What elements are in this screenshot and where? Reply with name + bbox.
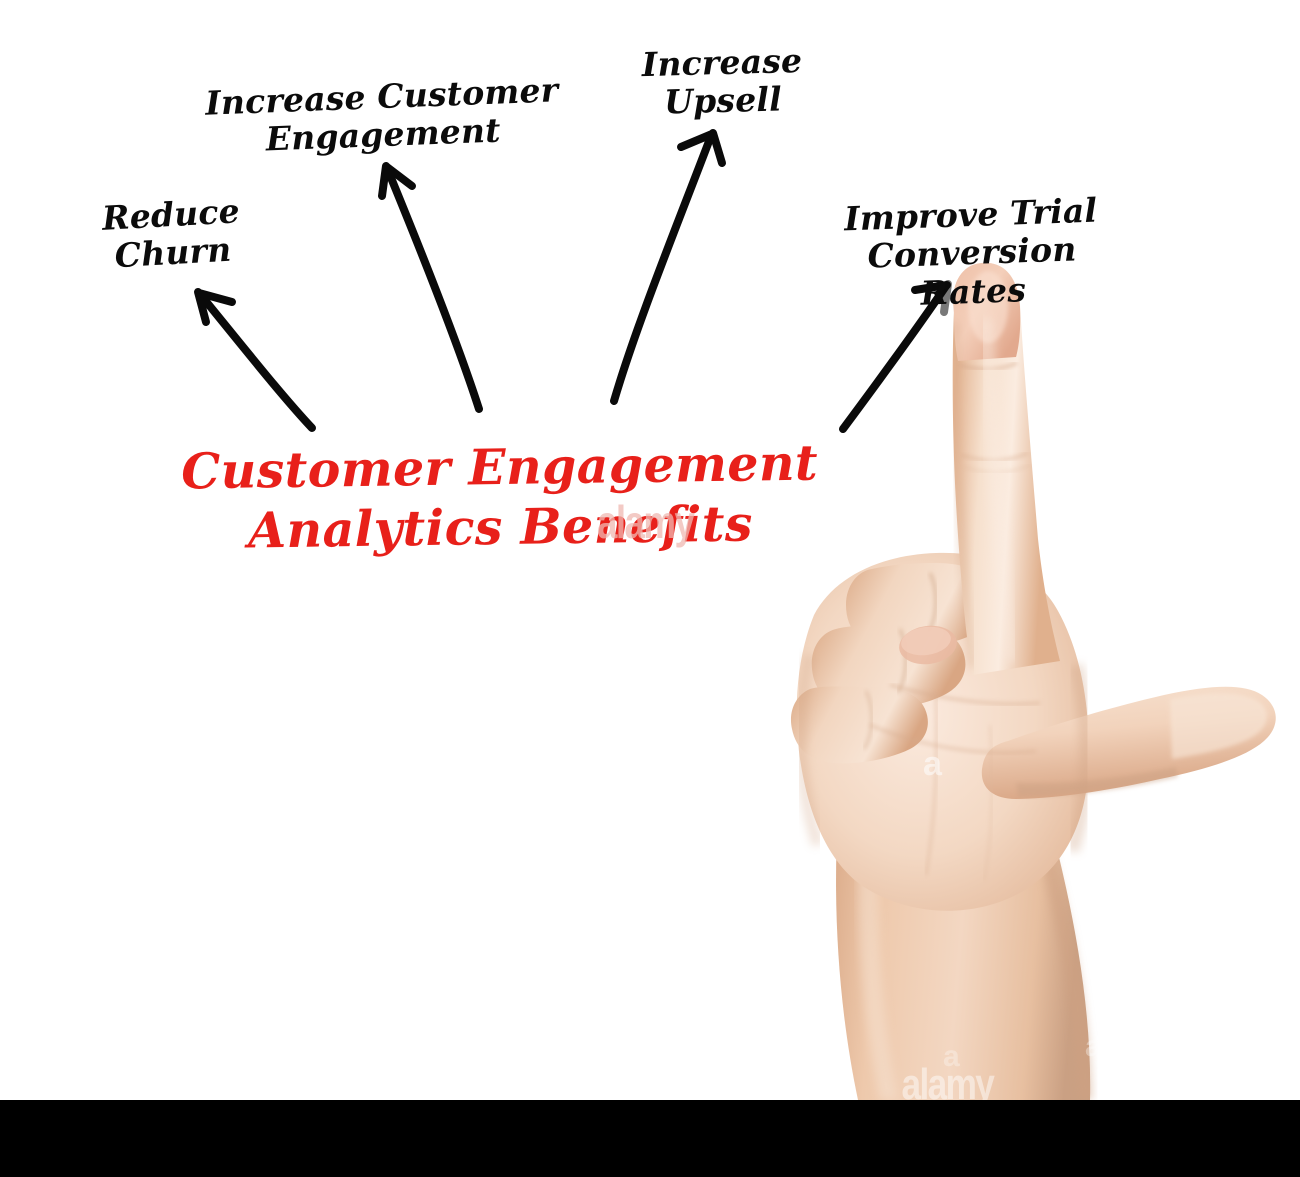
watermark-a-small-mid: a — [1085, 1030, 1102, 1064]
arrow-to-increase-upsell — [614, 133, 722, 401]
diagram-title: Customer Engagement Analytics Benefits — [179, 434, 821, 562]
arrow-to-increase-engagement — [382, 166, 479, 409]
label-increase-customer-engagement: Increase Customer Engagement — [204, 71, 562, 161]
label-reduce-churn: Reduce Churn — [80, 191, 264, 277]
footer-bar: alamy Image ID: 2AEGNNP www.alamy.com — [0, 1100, 1300, 1177]
watermark-alamy-overlay: alamy — [597, 495, 693, 549]
diagram-canvas: Reduce Churn Increase Customer Engagemen… — [0, 0, 1300, 1177]
label-improve-trial-conversion-rates: Improve Trial Conversion Rates — [810, 190, 1134, 316]
watermark-a-small-arm: a — [943, 1040, 960, 1074]
arrow-to-reduce-churn — [198, 292, 312, 428]
hand-pointing-image — [740, 255, 1300, 1115]
watermark-a-small-top: a — [923, 745, 942, 784]
label-increase-upsell: Increase Upsell — [629, 42, 816, 123]
